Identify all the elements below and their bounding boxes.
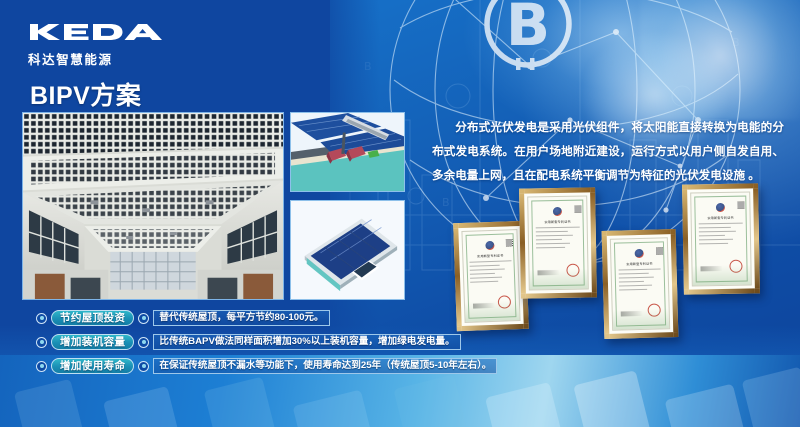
certificate-gallery: 实用新型专利证书 实用新型专利证书 实用新型专利证书	[455, 180, 800, 340]
bitcoin-logo-icon: B	[487, 0, 569, 70]
patent-certificate-2: 实用新型专利证书	[519, 187, 597, 298]
feature-label-3: 增加使用寿命	[51, 358, 134, 374]
feature-row-2: 增加装机容量 比传统BAPV做法同样面积增加30%以上装机容量，增加绿电发电量。	[36, 330, 466, 354]
bullet-dot-icon	[138, 313, 149, 324]
bullet-dot-icon	[138, 337, 149, 348]
patent-certificate-4: 实用新型专利证书	[682, 183, 760, 294]
feature-detail-1: 替代传统屋顶，每平方节约80-100元。	[153, 310, 329, 326]
feature-detail-2: 比传统BAPV做法同样面积增加30%以上装机容量，增加绿电发电量。	[153, 334, 460, 350]
certificate-title: 实用新型专利证书	[611, 260, 667, 266]
feature-row-1: 节约屋顶投资 替代传统屋顶，每平方节约80-100元。	[36, 306, 466, 330]
intro-paragraph: 分布式光伏发电是采用光伏组件，将太阳能直接转换为电能的分布式发电系统。在用户场地…	[432, 116, 784, 187]
certificate-title: 实用新型专利证书	[463, 252, 517, 259]
feature-label-2: 增加装机容量	[51, 334, 134, 350]
light-glow	[640, 0, 800, 120]
feature-detail-3: 在保证传统屋顶不漏水等功能下，使用寿命达到25年（传统屋顶5-10年左右）。	[153, 358, 497, 374]
brand-logo: 科达智慧能源	[28, 22, 178, 66]
patent-emblem-icon	[716, 203, 725, 212]
patent-emblem-icon	[553, 207, 562, 216]
patent-emblem-icon	[635, 249, 644, 258]
svg-text:B: B	[506, 0, 550, 59]
page-title: BIPV方案	[30, 76, 141, 112]
feature-list: 节约屋顶投资 替代传统屋顶，每平方节约80-100元。 增加装机容量 比传统BA…	[36, 306, 466, 378]
bullet-dot-icon	[36, 361, 47, 372]
feature-label-1: 节约屋顶投资	[51, 310, 134, 326]
feature-row-3: 增加使用寿命 在保证传统屋顶不漏水等功能下，使用寿命达到25年（传统屋顶5-10…	[36, 354, 466, 378]
pv-panel-mounting-detail-render	[290, 112, 405, 192]
patent-certificate-3: 实用新型专利证书	[602, 229, 679, 339]
pv-roof-array-isometric-render	[290, 200, 405, 300]
keda-wordmark-icon	[28, 22, 164, 42]
bullet-dot-icon	[36, 337, 47, 348]
qr-code-icon	[575, 206, 582, 213]
certificate-title: 实用新型专利证书	[529, 219, 587, 225]
qr-code-icon	[505, 239, 512, 246]
patent-emblem-icon	[485, 241, 494, 250]
bullet-dot-icon	[36, 313, 47, 324]
atrium-skylight-bipv-photo	[22, 112, 284, 300]
qr-code-icon	[656, 247, 663, 254]
certificate-title: 实用新型专利证书	[692, 215, 750, 221]
bipv-poster: BB BB B	[0, 0, 800, 427]
brand-logo-cn: 科达智慧能源	[28, 49, 178, 68]
bullet-dot-icon	[138, 361, 149, 372]
qr-code-icon	[738, 202, 745, 209]
